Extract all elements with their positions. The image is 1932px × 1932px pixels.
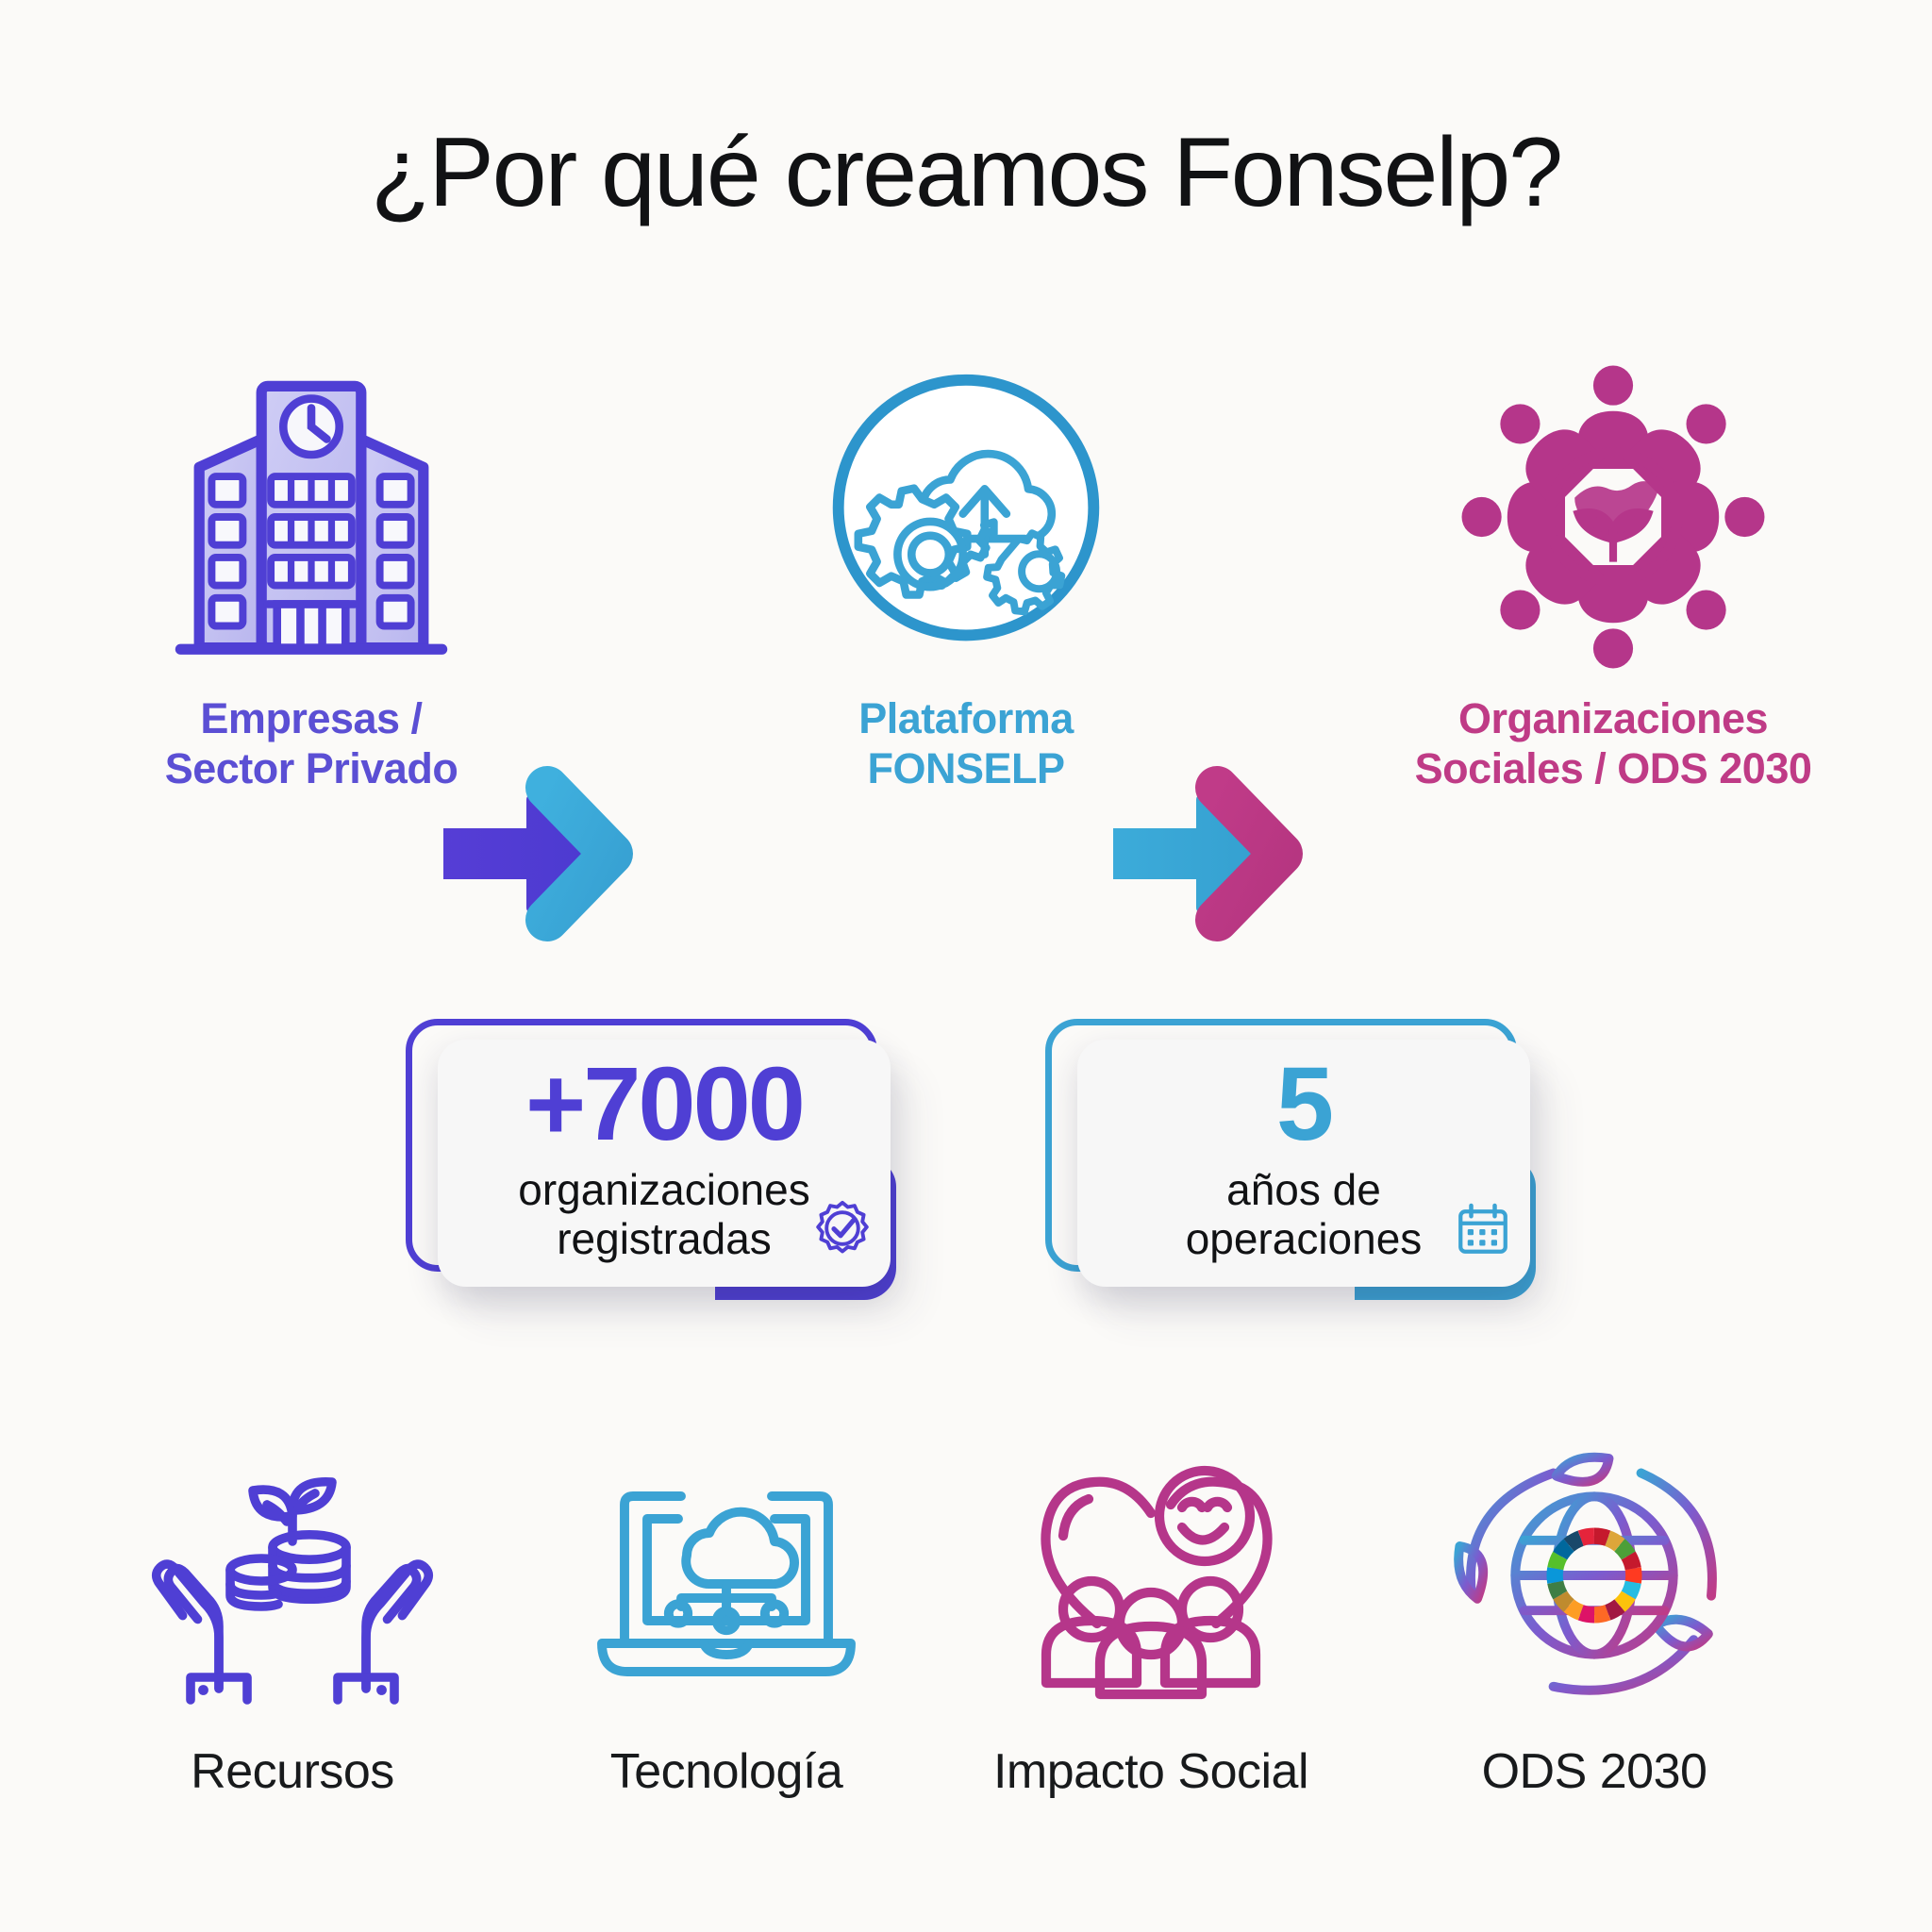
- process-flow: Empresas / Sector Privado: [0, 340, 1932, 906]
- feature-tecnologia: Tecnología: [528, 1415, 924, 1800]
- feature-label: Recursos: [94, 1743, 491, 1800]
- stat-card-anios-operaciones: 5 años de operaciones: [1045, 1019, 1536, 1292]
- calendar-icon: [1455, 1201, 1511, 1268]
- stat-card-organizaciones-registradas: +7000 organizaciones registradas: [406, 1019, 896, 1292]
- flow-node-organizaciones-label: Organizaciones Sociales / ODS 2030: [1321, 693, 1906, 793]
- people-circle-globe-icon: [1321, 340, 1906, 693]
- flow-label-line1: Empresas /: [38, 693, 585, 743]
- flow-node-empresas: Empresas / Sector Privado: [38, 340, 585, 793]
- globe-sdg-wheel-leaves-icon: [1396, 1415, 1792, 1736]
- hands-coins-plant-icon: [94, 1415, 491, 1736]
- feature-label: ODS 2030: [1396, 1743, 1792, 1800]
- feature-recursos: Recursos: [94, 1415, 491, 1800]
- cloud-gears-icon: [692, 340, 1240, 693]
- laptop-cloud-network-icon: [528, 1415, 924, 1736]
- feature-impacto-social: Impacto Social: [953, 1415, 1349, 1800]
- flow-node-plataforma: Plataforma FONSELP: [692, 340, 1240, 793]
- flow-label-line1: Plataforma: [692, 693, 1240, 743]
- arrow-right-icon: [1113, 745, 1330, 967]
- office-building-icon: [38, 340, 585, 693]
- stat-description: organizaciones registradas: [438, 1166, 891, 1263]
- arrow-right-icon: [443, 745, 660, 967]
- page-title: ¿Por qué creamos Fonselp?: [0, 117, 1932, 229]
- stat-card-body: 5 años de operaciones: [1077, 1040, 1530, 1287]
- stat-card-body: +7000 organizaciones registradas: [438, 1040, 891, 1287]
- stat-number: 5: [1276, 1053, 1331, 1157]
- flow-node-organizaciones: Organizaciones Sociales / ODS 2030: [1321, 340, 1906, 793]
- verified-check-badge-icon: [813, 1199, 872, 1268]
- stat-description: años de operaciones: [1077, 1166, 1530, 1263]
- flow-label-line1: Organizaciones: [1321, 693, 1906, 743]
- flow-label-line2: Sociales / ODS 2030: [1321, 743, 1906, 793]
- feature-label: Tecnología: [528, 1743, 924, 1800]
- heart-people-smiley-icon: [953, 1415, 1349, 1736]
- feature-ods-2030: ODS 2030: [1396, 1415, 1792, 1800]
- stat-number: +7000: [525, 1053, 803, 1157]
- feature-label: Impacto Social: [953, 1743, 1349, 1800]
- stat-cards: +7000 organizaciones registradas 5 años …: [0, 1019, 1932, 1302]
